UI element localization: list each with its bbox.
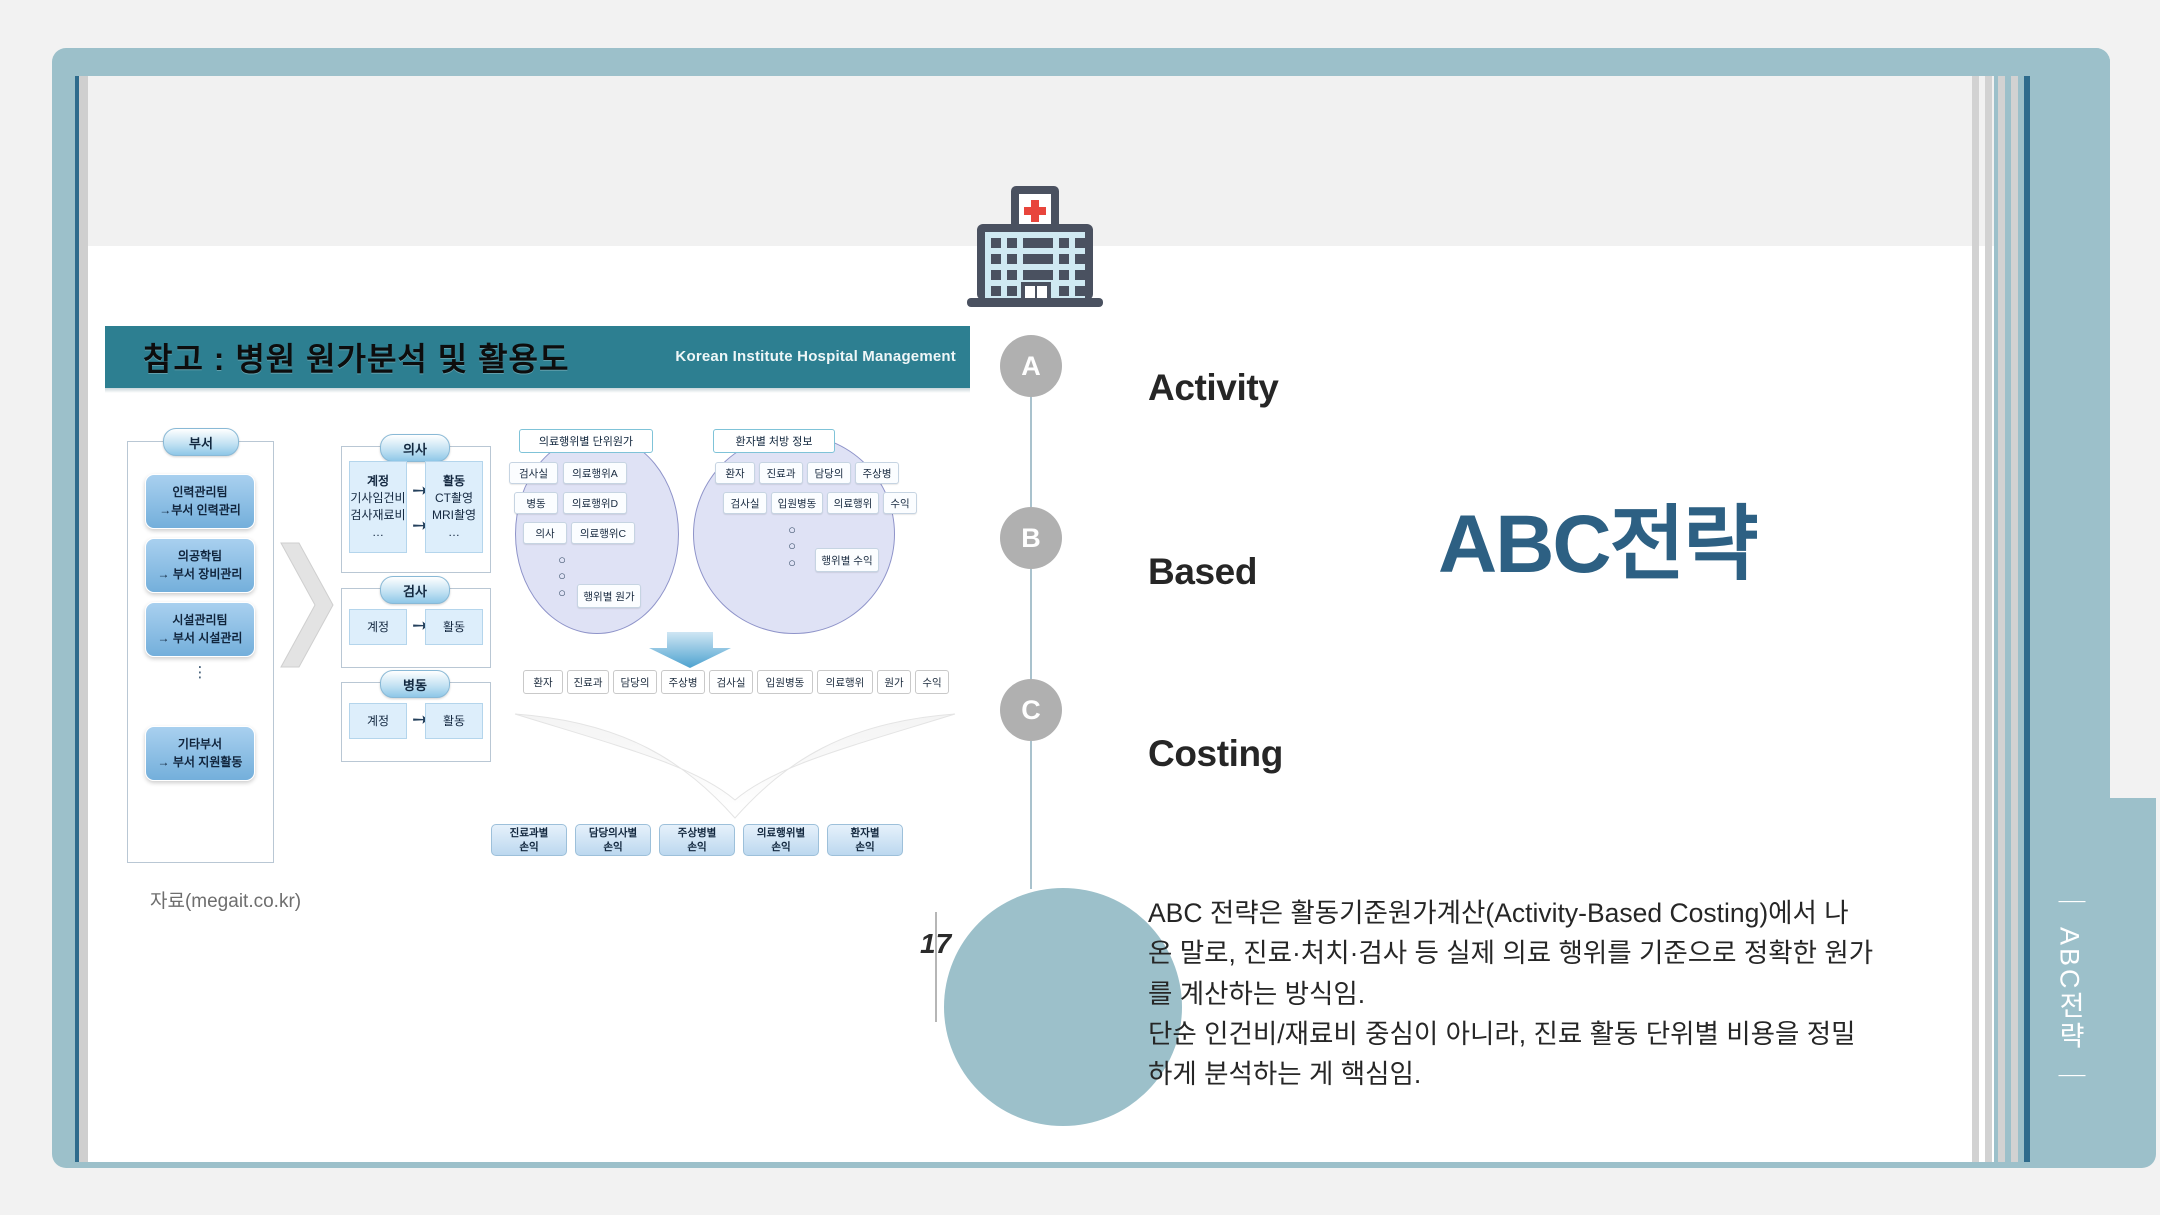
patient-order-circle-title: 환자별 처방 정보 <box>713 429 835 453</box>
result-card: 담당의사별 손익 <box>575 824 651 856</box>
hospital-icon <box>955 182 1115 310</box>
result-card-line1: 진료과별 <box>510 826 549 840</box>
timeline-connector <box>1030 741 1032 889</box>
page-title: ABC전략 <box>1438 477 1757 596</box>
dept-card: 시설관리팀 → 부서 시설관리 <box>145 602 255 657</box>
merged-chip: 주상병 <box>661 670 705 694</box>
patient-order-chip: 입원병동 <box>771 492 823 514</box>
patient-order-chip: 수익 <box>883 492 917 514</box>
patient-order-result: 행위별 수익 <box>815 548 879 572</box>
acct-title: 계정 <box>367 619 389 636</box>
reference-source-caption: 자료(megait.co.kr) <box>150 886 301 913</box>
ward-activity-box: 활동 <box>425 703 483 739</box>
unit-cost-chip: 검사실 <box>509 462 558 484</box>
result-card-line1: 담당의사별 <box>589 826 637 840</box>
timeline-connector <box>1030 569 1032 679</box>
body-line: 를 계산하는 방식임. <box>1148 974 1938 1014</box>
dept-card-line2: → 부서 지원활동 <box>158 754 243 771</box>
body-line: ABC 전략은 활동기준원가계산(Activity-Based Costing)… <box>1148 893 1938 933</box>
timeline-label-costing: Costing <box>1148 733 1283 775</box>
patient-order-chip: 진료과 <box>759 462 803 484</box>
merged-chip: 담당의 <box>613 670 657 694</box>
dept-ellipsis: ⋮ <box>190 666 210 680</box>
result-card-line2: 손익 <box>603 840 622 854</box>
doctor-activity-box: 활동 CT촬영 MRI촬영 … <box>425 461 483 553</box>
merged-chip: 수익 <box>915 670 949 694</box>
right-rule-3 <box>1998 76 2005 1162</box>
timeline-node-a[interactable]: A <box>1000 335 1062 397</box>
body-line: 하게 분석하는 게 핵심임. <box>1148 1054 1938 1094</box>
reference-header-shadow <box>105 388 970 393</box>
timeline-node-b[interactable]: B <box>1000 507 1062 569</box>
reference-header: 참고 : 병원 원가분석 및 활용도 Korean Institute Hosp… <box>105 326 970 388</box>
result-card-line2: 손익 <box>855 840 874 854</box>
patient-order-chip: 주상병 <box>855 462 899 484</box>
acct-title: 계정 <box>367 473 389 490</box>
result-card-line2: 손익 <box>687 840 706 854</box>
result-card: 환자별 손익 <box>827 824 903 856</box>
result-card-line2: 손익 <box>771 840 790 854</box>
result-card-line1: 의료행위별 <box>757 826 805 840</box>
unit-cost-circle-title: 의료행위별 단위원가 <box>519 429 653 453</box>
dept-card-line1: 기타부서 <box>178 736 222 753</box>
reference-diagram-image: 참고 : 병원 원가분석 및 활용도 Korean Institute Hosp… <box>105 326 970 946</box>
acct-l2: 기사임건비 <box>350 490 405 507</box>
ward-account-box: 계정 <box>349 703 407 739</box>
dept-card-line1: 시설관리팀 <box>172 612 227 629</box>
patient-order-chip: 검사실 <box>723 492 767 514</box>
exam-account-box: 계정 <box>349 609 407 645</box>
unit-cost-chip: 의료행위A <box>563 462 627 484</box>
timeline-label-activity: Activity <box>1148 367 1278 409</box>
reference-header-subtitle: Korean Institute Hospital Management <box>675 348 956 365</box>
acct-title: 계정 <box>367 713 389 730</box>
result-card-line2: 손익 <box>519 840 538 854</box>
body-text: ABC 전략은 활동기준원가계산(Activity-Based Costing)… <box>1148 893 1938 1094</box>
unit-cost-chip: 의료행위D <box>563 492 627 514</box>
body-line: 단순 인건비/재료비 중심이 아니라, 진료 활동 단위별 비용을 정밀 <box>1148 1014 1938 1054</box>
act-l2: CT촬영 <box>435 490 473 507</box>
timeline-node-c[interactable]: C <box>1000 679 1062 741</box>
result-card-line1: 환자별 <box>851 826 880 840</box>
timeline-connector <box>1030 397 1032 507</box>
dept-card: 기타부서 → 부서 지원활동 <box>145 726 255 781</box>
funnel-shape <box>505 708 965 826</box>
result-card-line1: 주상병별 <box>678 826 717 840</box>
unit-cost-result: 행위별 원가 <box>577 584 641 608</box>
right-rule-4 <box>2011 76 2018 1162</box>
result-card: 의료행위별 손익 <box>743 824 819 856</box>
patient-order-ellipsis: ○ ○ ○ <box>783 522 801 571</box>
decorative-big-circle <box>944 888 1182 1126</box>
dept-card: 의공학팀 → 부서 장비관리 <box>145 538 255 593</box>
body-line: 온 말로, 진료·처치·검사 등 실제 의료 행위를 기준으로 정확한 원가 <box>1148 933 1938 973</box>
result-card: 주상병별 손익 <box>659 824 735 856</box>
unit-cost-ellipsis: ○ ○ ○ <box>553 552 571 601</box>
unit-cost-chip: 병동 <box>514 492 558 514</box>
right-edge-rules <box>1972 76 2030 1162</box>
page-number: 17 <box>920 928 951 960</box>
act-l3: MRI촬영 <box>432 507 476 524</box>
merged-chip: 입원병동 <box>757 670 813 694</box>
merged-chip: 원가 <box>877 670 911 694</box>
patient-order-chip: 환자 <box>715 462 755 484</box>
dept-card-line1: 의공학팀 <box>178 548 222 565</box>
doctor-account-box: 계정 기사임건비 검사재료비 … <box>349 461 407 553</box>
acct-l3: 검사재료비 <box>350 507 405 524</box>
side-tab-title: ｜ ABC전략 ｜ <box>2030 860 2110 1120</box>
act-l4: … <box>448 524 460 541</box>
chevron-arrow-icon <box>277 541 335 671</box>
act-title: 활동 <box>443 473 465 490</box>
dept-card-line2: → 부서 장비관리 <box>158 566 243 583</box>
ward-group-caption: 병동 <box>380 670 450 698</box>
unit-cost-chip: 의사 <box>523 522 567 544</box>
down-arrow-icon <box>645 630 735 670</box>
result-card: 진료과별 손익 <box>491 824 567 856</box>
patient-order-chip: 의료행위 <box>827 492 879 514</box>
reference-header-title: 참고 : 병원 원가분석 및 활용도 <box>143 334 569 380</box>
unit-cost-chip: 의료행위C <box>571 522 635 544</box>
dept-card-line2: → 부서 시설관리 <box>158 630 243 647</box>
right-rule-2 <box>1985 76 1992 1162</box>
dept-card-line2: →부서 인력관리 <box>159 502 241 519</box>
act-title: 활동 <box>443 713 465 730</box>
merged-chip: 환자 <box>523 670 563 694</box>
act-title: 활동 <box>443 619 465 636</box>
left-edge-rule-grey <box>79 76 88 1162</box>
acct-l4: … <box>372 524 384 541</box>
patient-order-chip: 담당의 <box>807 462 851 484</box>
exam-activity-box: 활동 <box>425 609 483 645</box>
exam-group-caption: 검사 <box>380 576 450 604</box>
dept-card-line1: 인력관리팀 <box>172 484 227 501</box>
dept-group-caption: 부서 <box>163 428 239 456</box>
doctor-group-caption: 의사 <box>380 434 450 462</box>
timeline-label-based: Based <box>1148 551 1257 593</box>
merged-chip: 검사실 <box>709 670 753 694</box>
dept-card: 인력관리팀 →부서 인력관리 <box>145 474 255 529</box>
merged-chip: 의료행위 <box>817 670 873 694</box>
right-rule-1 <box>1972 76 1979 1162</box>
merged-chip: 진료과 <box>567 670 609 694</box>
